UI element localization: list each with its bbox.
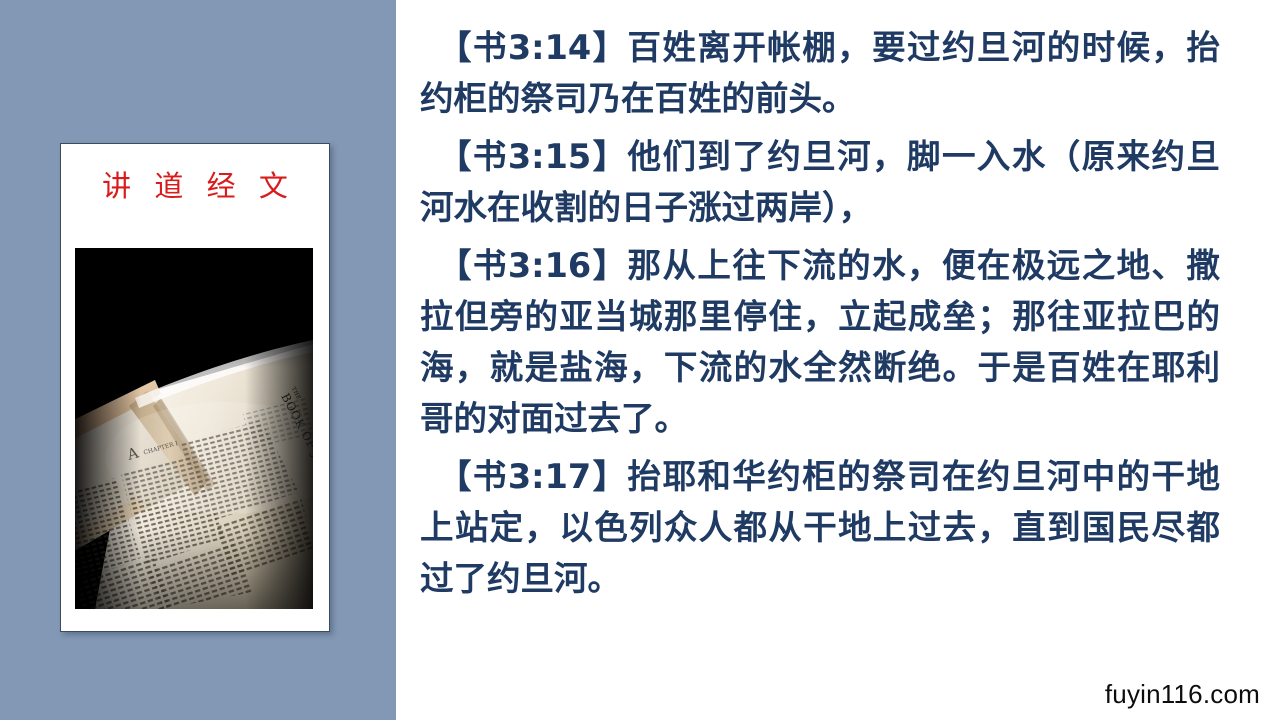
verse-item: 【书3:14】百姓离开帐棚，要过约旦河的时候，抬约柜的祭司乃在百姓的前头。 bbox=[420, 22, 1220, 124]
verse-list: 【书3:14】百姓离开帐棚，要过约旦河的时候，抬约柜的祭司乃在百姓的前头。 【书… bbox=[420, 22, 1220, 604]
site-watermark: fuyin116.com bbox=[1105, 679, 1260, 710]
verse-item: 【书3:16】那从上往下流的水，便在极远之地、撒拉但旁的亚当城那里停住，立起成垒… bbox=[420, 240, 1220, 444]
card-title: 讲 道 经 文 bbox=[61, 171, 329, 203]
scripture-card: 讲 道 经 文 bbox=[60, 143, 330, 632]
slide-root: 讲 道 经 文 bbox=[0, 0, 1280, 720]
verse-item: 【书3:15】他们到了约旦河，脚一入水（原来约旦河水在收割的日子涨过两岸）， bbox=[420, 131, 1220, 233]
left-panel: 讲 道 经 文 bbox=[0, 0, 396, 720]
bible-photo-illustration: BOOK OF JOSHUA THE A CHAPTER I bbox=[75, 248, 313, 609]
bible-photo: BOOK OF JOSHUA THE A CHAPTER I bbox=[75, 248, 313, 609]
verse-item: 【书3:17】抬耶和华约柜的祭司在约旦河中的干地上站定，以色列众人都从干地上过去… bbox=[420, 451, 1220, 604]
